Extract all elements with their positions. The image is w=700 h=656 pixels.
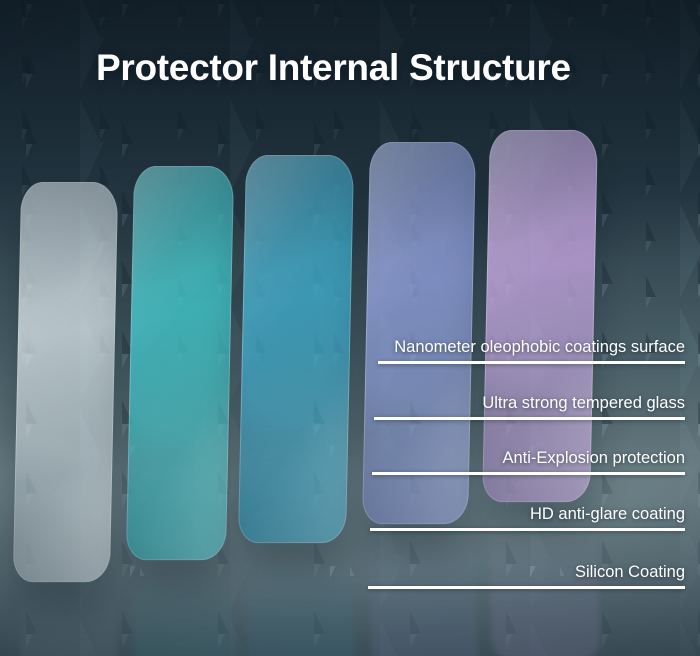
callout-divider-line — [370, 528, 685, 531]
callout-5: Silicon Coating — [368, 556, 685, 589]
callout-2: Ultra strong tempered glass — [374, 387, 685, 420]
callout-3: Anti-Explosion protection — [372, 442, 685, 475]
callout-label: HD anti-glare coating — [530, 505, 685, 524]
callout-label: Silicon Coating — [575, 563, 685, 582]
callout-label: Ultra strong tempered glass — [482, 394, 685, 413]
callout-4: HD anti-glare coating — [370, 498, 685, 531]
callout-1: Nanometer oleophobic coatings surface — [378, 331, 685, 364]
callout-list: Nanometer oleophobic coatings surfaceUlt… — [0, 0, 700, 656]
callout-divider-line — [372, 472, 685, 475]
callout-label: Anti-Explosion protection — [502, 449, 685, 468]
callout-divider-line — [374, 417, 685, 420]
callout-divider-line — [378, 361, 685, 364]
product-infographic: Protector Internal Structure Nanometer o… — [0, 0, 700, 656]
callout-label: Nanometer oleophobic coatings surface — [394, 338, 685, 357]
callout-divider-line — [368, 586, 685, 589]
